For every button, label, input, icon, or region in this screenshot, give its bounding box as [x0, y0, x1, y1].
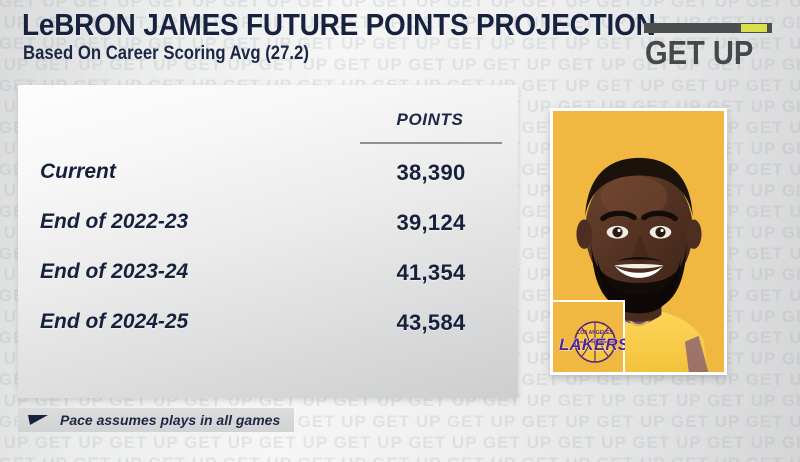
table-row: End of 2022-23 39,124: [18, 210, 518, 246]
stats-panel: POINTS Current 38,390 End of 2022-23 39,…: [18, 85, 518, 398]
logo-bar: [644, 23, 772, 33]
footnote-bar: Pace assumes plays in all games: [18, 408, 294, 432]
row-label: End of 2023-24: [40, 260, 188, 284]
table-row: End of 2024-25 43,584: [18, 310, 518, 346]
row-value: 43,584: [360, 310, 502, 336]
broadcast-graphic: GET UP GET UP GET UP GET UP GET UP GET U…: [0, 0, 800, 462]
player-photo: LOS ANGELES LAKERS: [550, 108, 727, 375]
column-header-rule: [360, 142, 502, 144]
footnote-text: Pace assumes plays in all games: [60, 412, 280, 428]
watermark-row: GET UP GET UP GET UP GET UP GET UP GET U…: [0, 432, 800, 453]
logo-bar-accent: [741, 24, 767, 32]
lakers-logo-badge: LOS ANGELES LAKERS: [553, 300, 625, 372]
row-value: 39,124: [360, 210, 502, 236]
column-header-points: POINTS: [360, 110, 500, 130]
row-value: 38,390: [360, 160, 502, 186]
table-row: End of 2023-24 41,354: [18, 260, 518, 296]
row-label: Current: [40, 160, 116, 184]
row-label: End of 2024-25: [40, 310, 188, 334]
watermark-row: GET UP GET UP GET UP GET UP GET UP GET U…: [0, 453, 800, 462]
logo-text: GET UP: [645, 35, 753, 73]
row-label: End of 2022-23: [40, 210, 188, 234]
page-title: LeBRON JAMES FUTURE POINTS PROJECTION: [22, 7, 656, 43]
get-up-logo: GET UP: [644, 23, 772, 71]
pennant-arrow-icon: [28, 414, 48, 426]
table-row: Current 38,390: [18, 160, 518, 196]
header: LeBRON JAMES FUTURE POINTS PROJECTION Ba…: [0, 0, 800, 78]
row-value: 41,354: [360, 260, 502, 286]
page-subtitle: Based On Career Scoring Avg (27.2): [23, 43, 309, 65]
lakers-name-text: LAKERS: [559, 335, 625, 354]
